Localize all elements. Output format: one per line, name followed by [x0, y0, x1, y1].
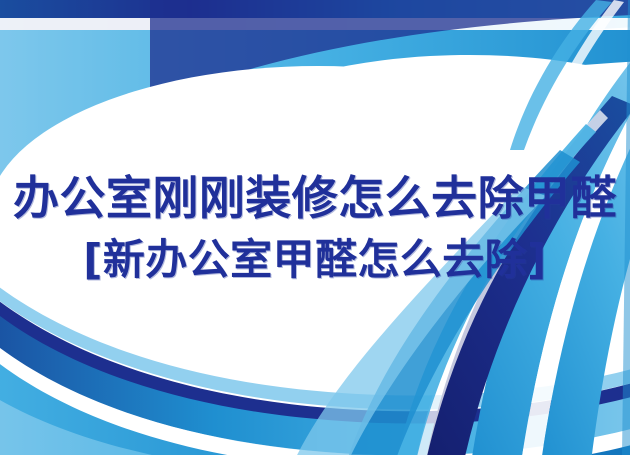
poster-canvas: 办公室刚刚装修怎么去除甲醛 [新办公室甲醛怎么去除]	[0, 0, 630, 455]
decorative-background-artwork	[0, 0, 630, 455]
